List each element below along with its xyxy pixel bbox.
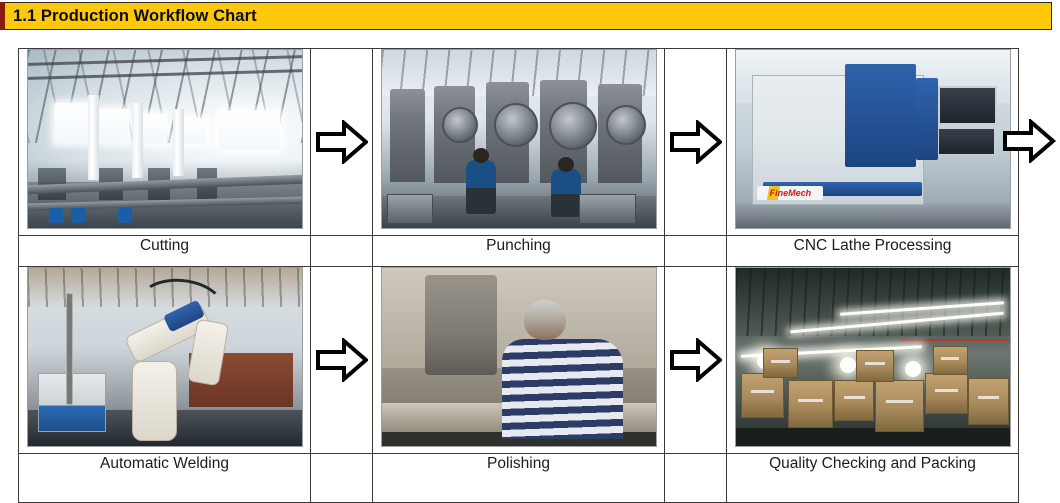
- warehouse-packing-photo: [735, 267, 1011, 447]
- workflow-arrow-cell-2: [665, 49, 727, 236]
- workflow-photo-cell-cnc: FineMech: [727, 49, 1019, 236]
- production-workflow-table: FineMech Cutting Punching CNC Lathe Proc…: [18, 48, 1019, 503]
- spacer-cell-2: [665, 236, 727, 267]
- table-row: Cutting Punching CNC Lathe Processing: [19, 236, 1019, 267]
- factory-cutting-hall-photo: [27, 49, 303, 229]
- workflow-arrow-cell-5: [998, 48, 1060, 234]
- workflow-photo-cell-packing: [727, 267, 1019, 454]
- welding-robot-photo: [27, 267, 303, 447]
- table-row: Automatic Welding Polishing Quality Chec…: [19, 454, 1019, 503]
- workflow-arrow-cell-1: [311, 49, 373, 236]
- right-block-arrow-icon: [670, 338, 722, 382]
- table-row: [19, 267, 1019, 454]
- punching-press-workers-photo: [381, 49, 657, 229]
- polishing-worker-photo: [381, 267, 657, 447]
- spacer-cell-1: [311, 236, 373, 267]
- header-accent-stripe: [0, 2, 5, 30]
- workflow-arrow-cell-4: [665, 267, 727, 454]
- right-block-arrow-icon: [316, 120, 368, 164]
- workflow-photo-cell-polishing: [373, 267, 665, 454]
- right-block-arrow-icon: [670, 120, 722, 164]
- workflow-caption-cutting: Cutting: [19, 236, 311, 267]
- workflow-photo-cell-punching: [373, 49, 665, 236]
- workflow-caption-packing: Quality Checking and Packing: [727, 454, 1019, 503]
- machine-brand-logo: FineMech: [757, 186, 823, 200]
- page-title: 1.1 Production Workflow Chart: [0, 7, 257, 26]
- table-row: FineMech: [19, 49, 1019, 236]
- workflow-caption-polishing: Polishing: [373, 454, 665, 503]
- section-header-bar: 1.1 Production Workflow Chart: [0, 2, 1052, 30]
- workflow-caption-welding: Automatic Welding: [19, 454, 311, 503]
- cnc-lathe-machine-photo: FineMech: [735, 49, 1011, 229]
- right-block-arrow-icon: [998, 119, 1060, 163]
- workflow-photo-cell-welding: [19, 267, 311, 454]
- workflow-caption-punching: Punching: [373, 236, 665, 267]
- workflow-caption-cnc: CNC Lathe Processing: [727, 236, 1019, 267]
- workflow-photo-cell-cutting: [19, 49, 311, 236]
- right-block-arrow-icon: [316, 338, 368, 382]
- workflow-arrow-cell-3: [311, 267, 373, 454]
- spacer-cell-4: [665, 454, 727, 503]
- spacer-cell-3: [311, 454, 373, 503]
